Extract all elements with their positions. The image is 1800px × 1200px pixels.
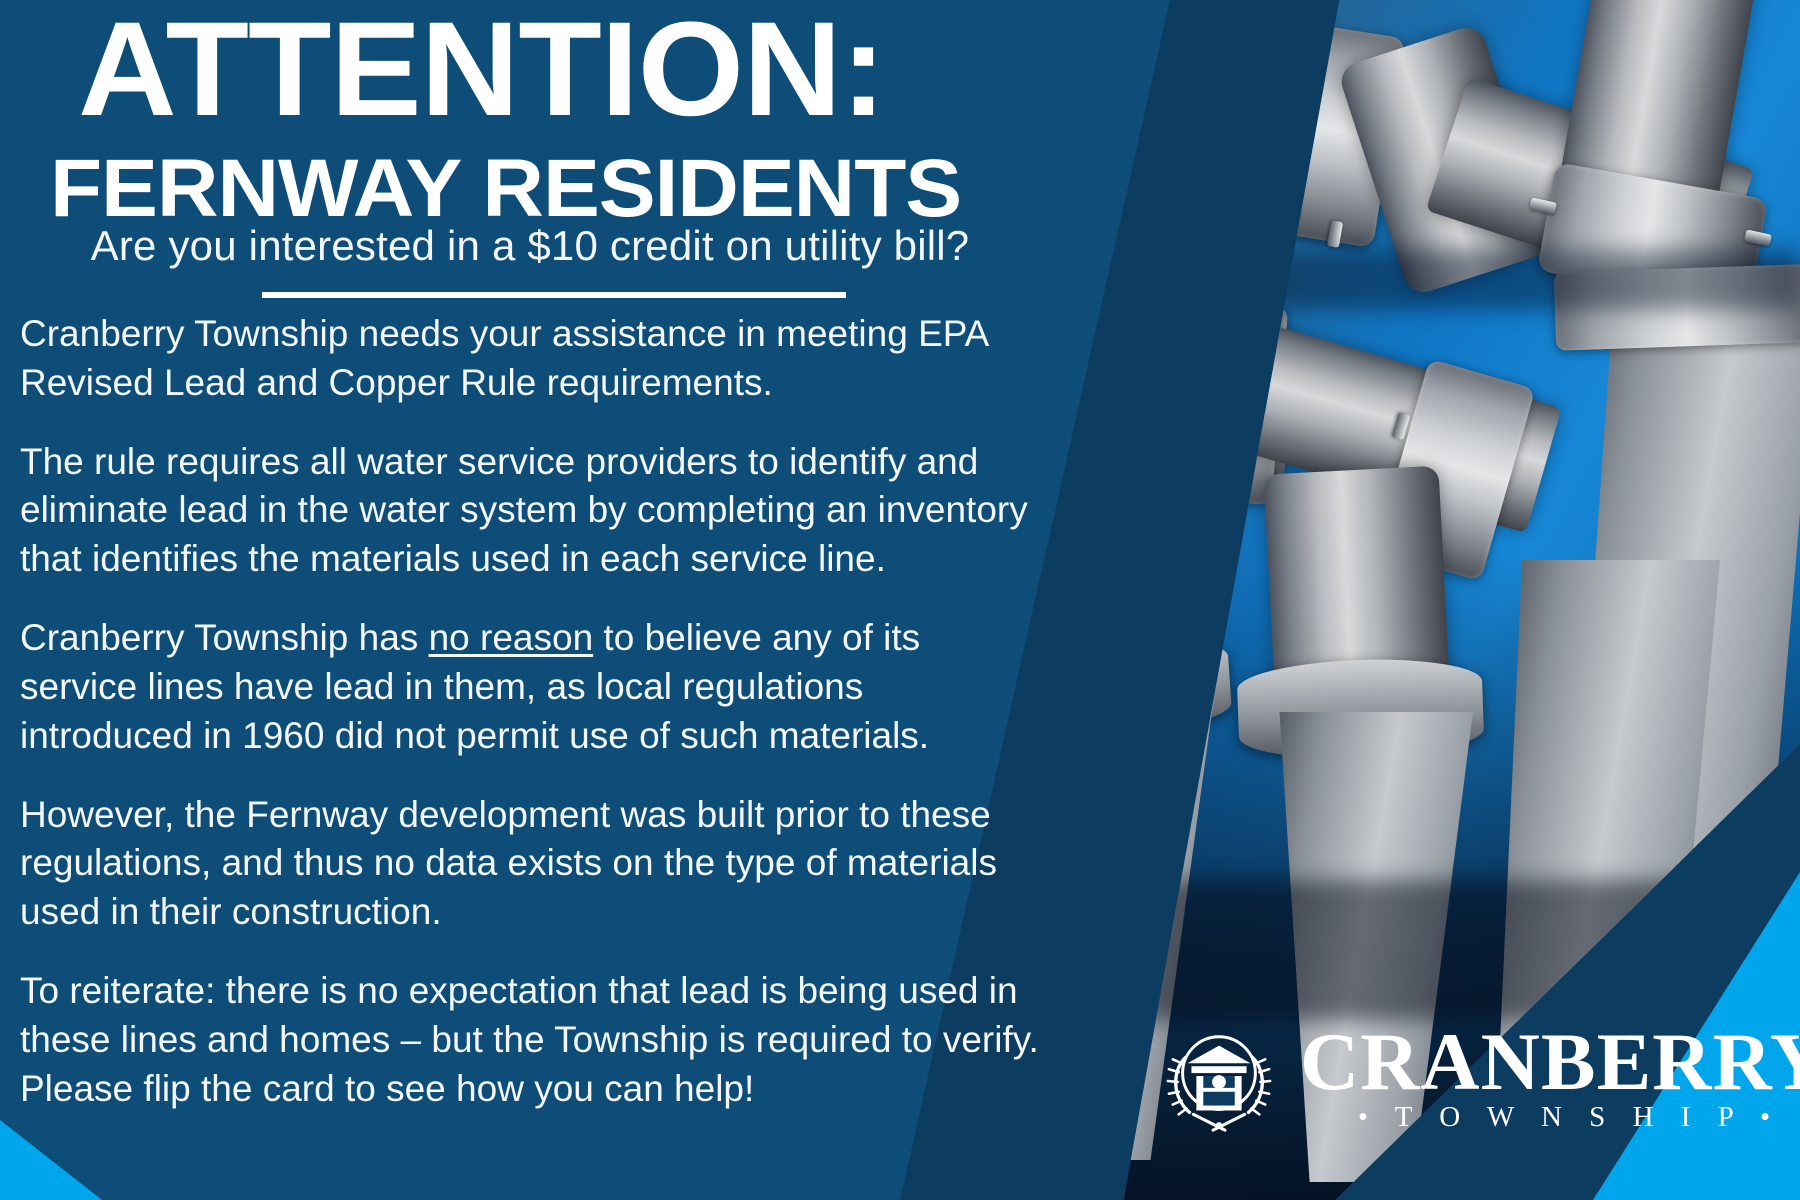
body-text: To reiterate: there is no expectation th… <box>20 970 1039 1109</box>
page-title: ATTENTION: <box>78 8 1078 131</box>
body-text: However, the Fernway development was bui… <box>20 794 997 933</box>
content-column: ATTENTION: FERNWAY RESIDENTS Are you int… <box>0 0 1060 1200</box>
body-paragraph: The rule requires all water service prov… <box>20 438 1040 584</box>
body-text: Cranberry Township has <box>20 617 429 658</box>
body-paragraph: To reiterate: there is no expectation th… <box>20 967 1040 1113</box>
header-divider <box>262 292 846 298</box>
body-paragraph: Cranberry Township has no reason to beli… <box>20 614 1040 760</box>
flyer-card: ATTENTION: FERNWAY RESIDENTS Are you int… <box>0 0 1800 1200</box>
body-text: The rule requires all water service prov… <box>20 441 1028 580</box>
page-tagline: Are you interested in a $10 credit on ut… <box>0 222 1060 270</box>
page-subtitle: FERNWAY RESIDENTS <box>50 148 1090 230</box>
emphasis-text: no reason <box>429 617 594 658</box>
logo-subtitle: • T O W N S H I P • <box>1350 1101 1780 1134</box>
cranberry-township-logo: CRANBERRY • T O W N S H I P • <box>1160 1020 1800 1138</box>
logo-name: CRANBERRY <box>1300 1024 1800 1099</box>
body-paragraph: However, the Fernway development was bui… <box>20 791 1040 937</box>
body-text: Cranberry Township needs your assistance… <box>20 313 987 403</box>
logo-wordmark: CRANBERRY • T O W N S H I P • <box>1300 1024 1800 1134</box>
body-paragraph: Cranberry Township needs your assistance… <box>20 310 1040 408</box>
township-crest-icon <box>1160 1020 1278 1138</box>
body-copy: Cranberry Township needs your assistance… <box>20 310 1040 1114</box>
